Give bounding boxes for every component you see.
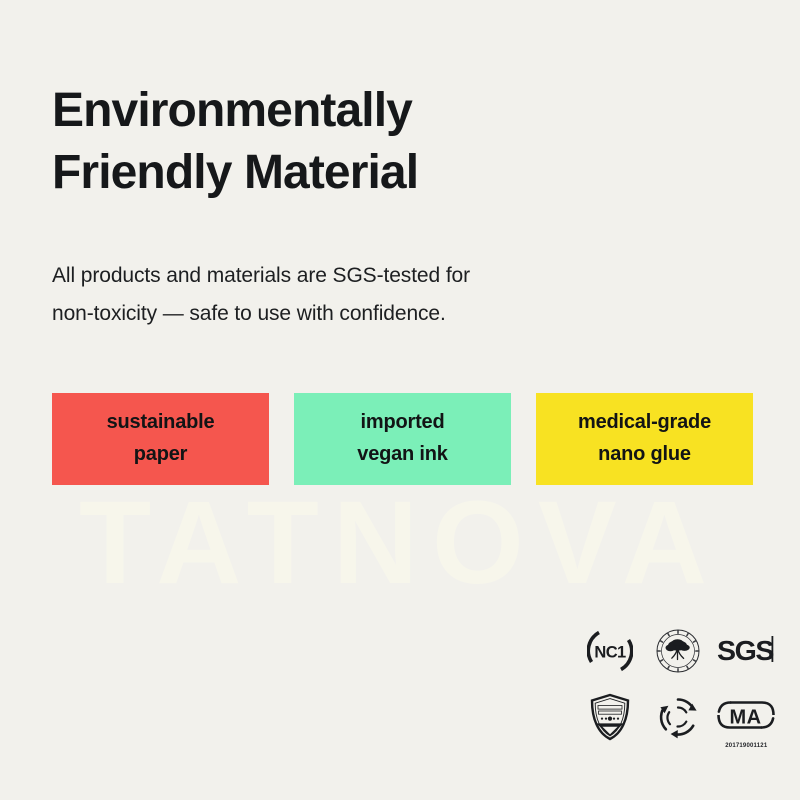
material-chip-group: sustainable paper imported vegan ink med… xyxy=(52,393,754,485)
material-chip-label-line-2: nano glue xyxy=(598,439,691,471)
certification-badge-sgs: SGS xyxy=(715,620,777,682)
nc1-circle-icon: NC1 xyxy=(587,628,633,674)
shield-chevron-icon xyxy=(589,693,631,741)
brand-watermark: TATNOVA xyxy=(0,484,800,602)
material-chip-imported-vegan-ink: imported vegan ink xyxy=(294,393,511,485)
sgs-logo-icon: SGS xyxy=(716,634,776,668)
material-chip-label-line-1: medical-grade xyxy=(578,407,711,439)
certification-badge-group: NC1 xyxy=(578,620,778,748)
certification-badge-forest-seal xyxy=(647,620,709,682)
certification-badge-nc1: NC1 xyxy=(579,620,641,682)
material-chip-label-line-1: sustainable xyxy=(107,407,215,439)
certification-badge-shield xyxy=(579,686,641,748)
material-chip-medical-grade-nano-glue: medical-grade nano glue xyxy=(536,393,753,485)
material-chip-sustainable-paper: sustainable paper xyxy=(52,393,269,485)
page-subtitle: All products and materials are SGS-teste… xyxy=(52,257,652,333)
material-chip-label-line-2: paper xyxy=(134,439,187,471)
material-chip-label-line-2: vegan ink xyxy=(357,439,447,471)
page-subtitle-line-1: All products and materials are SGS-teste… xyxy=(52,257,652,295)
svg-text:MA: MA xyxy=(730,707,762,729)
cma-mark-icon: MA xyxy=(716,699,776,735)
recycle-arrows-icon xyxy=(655,694,701,740)
infographic-canvas: TATNOVA Environmentally Friendly Materia… xyxy=(0,0,800,800)
svg-text:SGS: SGS xyxy=(717,634,774,666)
certification-badge-recycle xyxy=(647,686,709,748)
page-title-line-1: Environmentally xyxy=(52,80,612,141)
material-chip-label-line-1: imported xyxy=(361,407,445,439)
page-title-line-2: Friendly Material xyxy=(52,142,612,203)
certification-badge-cma: MA 201719001121 xyxy=(715,686,777,748)
certification-badge-cma-caption: 201719001121 xyxy=(715,743,777,749)
forest-tree-seal-icon xyxy=(655,628,701,674)
page-title: Environmentally Friendly Material xyxy=(52,80,612,203)
page-subtitle-line-2: non-toxicity — safe to use with confiden… xyxy=(52,295,652,333)
svg-text:NC1: NC1 xyxy=(594,644,626,662)
